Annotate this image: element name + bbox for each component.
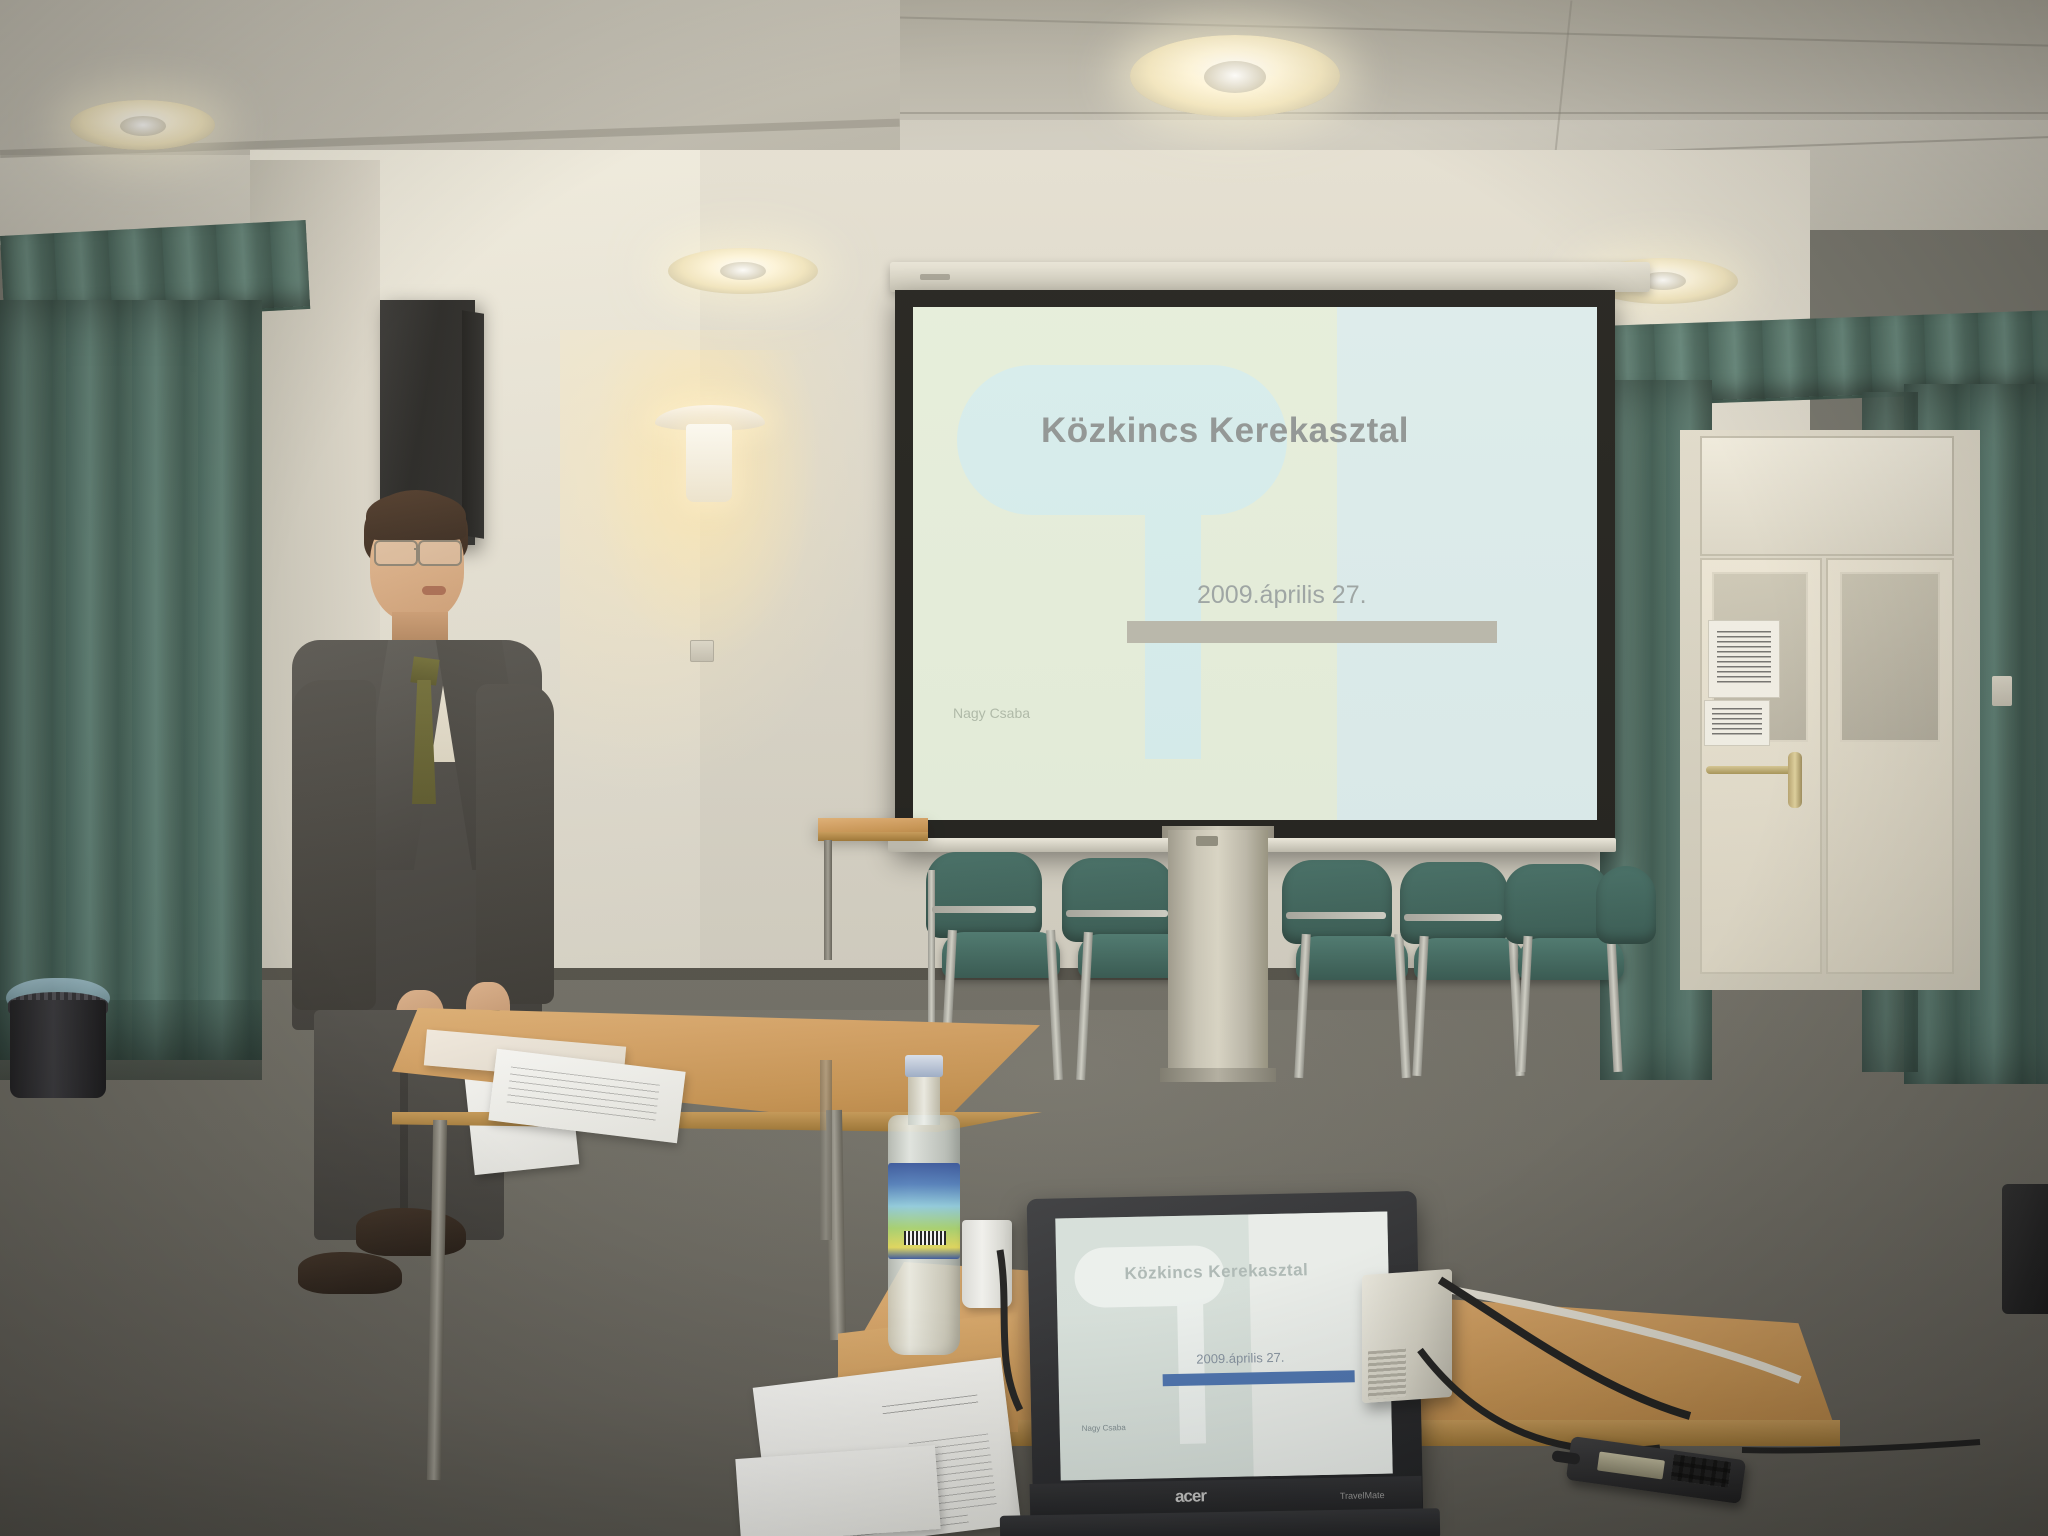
chair-5[interactable] <box>1504 864 1610 944</box>
slide-date: 2009.április 27. <box>1197 581 1367 610</box>
ceiling-light-reflector <box>720 262 766 280</box>
presenter-hairline <box>366 492 466 540</box>
chair-4-seat[interactable] <box>1414 938 1524 980</box>
presenter-glasses-right-lens <box>418 540 462 566</box>
chair-2-arm <box>1066 910 1168 917</box>
curtain-left[interactable] <box>0 300 262 1060</box>
waste-bin[interactable] <box>10 1000 106 1098</box>
conference-room-photo: Közkincs Kerekasztal 2009.április 27. Na… <box>0 0 2048 1536</box>
presenter-sleeve-right <box>476 684 554 1004</box>
slide-author: Nagy Csaba <box>953 705 1030 721</box>
edge-equipment <box>2002 1184 2048 1314</box>
ceiling-light-3 <box>668 248 818 294</box>
column-bracket <box>1196 836 1218 846</box>
chair-2[interactable] <box>1062 858 1174 942</box>
table-document-lines <box>506 1067 660 1125</box>
chair-3-arm <box>1286 912 1386 919</box>
ceiling-light-1 <box>1130 35 1340 117</box>
screen-housing-slot <box>920 274 950 280</box>
chair-3[interactable] <box>1282 860 1392 944</box>
column-base <box>1160 1068 1276 1082</box>
side-table-edge <box>818 832 928 841</box>
chair-6[interactable] <box>1596 866 1656 944</box>
water-bottle-neck <box>908 1073 940 1125</box>
cable-phone-charger <box>1742 1442 1980 1451</box>
sconce-glow <box>600 350 830 680</box>
chair-4[interactable] <box>1400 862 1508 944</box>
chair-4-arm <box>1404 914 1502 921</box>
cable-laptop-power <box>1000 1250 1020 1410</box>
cable-vga-white <box>1452 1290 1800 1380</box>
door-glass-right <box>1840 572 1940 742</box>
projection-screen-surface[interactable]: Közkincs Kerekasztal 2009.április 27. Na… <box>913 307 1597 820</box>
door-transom-window <box>1700 436 1954 556</box>
door-notice-text <box>1712 708 1762 738</box>
door-notice-upper <box>1708 620 1780 698</box>
chair-1-arm <box>932 906 1036 913</box>
door-notice-lower <box>1704 700 1770 746</box>
stone-column <box>1168 830 1268 1080</box>
chair-1[interactable] <box>926 852 1042 938</box>
slide-title: Közkincs Kerekasztal <box>1041 411 1409 451</box>
chair-3-seat[interactable] <box>1296 936 1408 980</box>
presenter-glasses-left-lens <box>374 540 418 566</box>
slide-canvas: Közkincs Kerekasztal 2009.április 27. Na… <box>913 307 1597 820</box>
cable-loop <box>1420 1350 1660 1451</box>
slide-accent-bar <box>1127 621 1497 643</box>
projection-screen-housing <box>890 262 1650 292</box>
wall-socket[interactable] <box>690 640 714 662</box>
slide-right-band <box>1337 307 1597 820</box>
door-notice-text <box>1717 631 1771 685</box>
water-bottle-cap[interactable] <box>905 1055 943 1077</box>
ceiling-light-reflector <box>1204 61 1266 93</box>
wall-sconce <box>686 424 732 502</box>
presenter-sleeve-left <box>292 680 376 1010</box>
ceiling-light-2 <box>70 100 215 150</box>
presenter-mouth <box>422 586 446 595</box>
chair-1-seat[interactable] <box>942 932 1060 978</box>
door-handle[interactable] <box>1788 752 1802 808</box>
light-switch[interactable] <box>1992 676 2012 706</box>
presenter-glasses-bridge <box>414 548 420 550</box>
cable-projector-power <box>1440 1280 1690 1416</box>
side-table-leg <box>824 840 832 960</box>
ceiling-light-reflector <box>120 116 166 136</box>
